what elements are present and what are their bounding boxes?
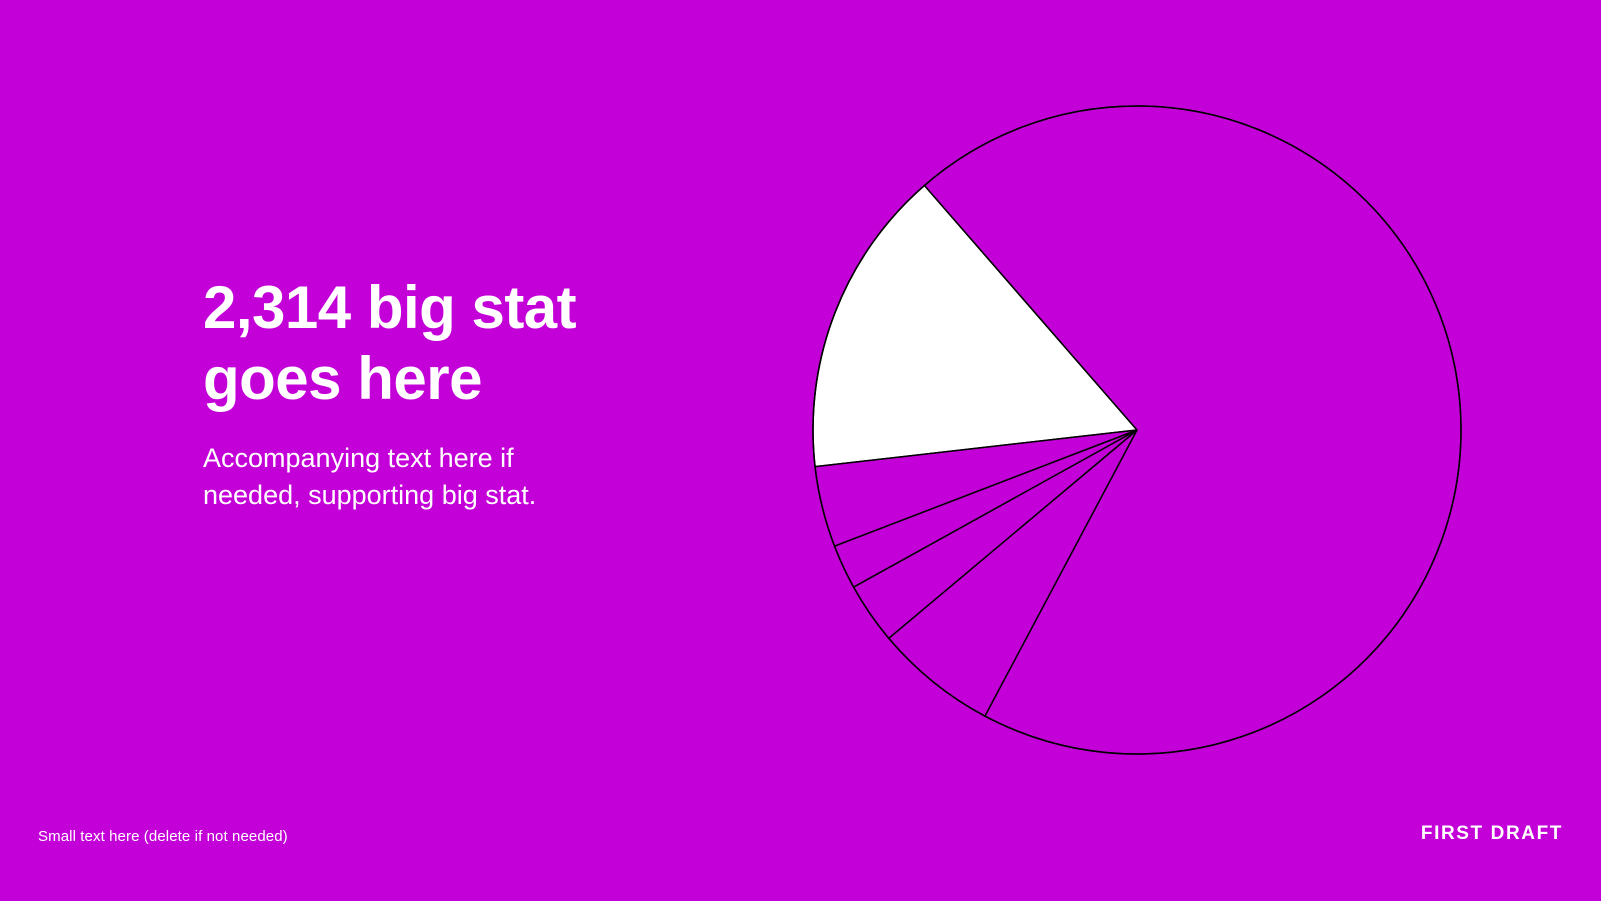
text-block: 2,314 big stat goes here Accompanying te…	[203, 272, 673, 514]
footer-small-text: Small text here (delete if not needed)	[38, 826, 288, 847]
pie-slice-group	[813, 106, 1461, 754]
big-stat-heading: 2,314 big stat goes here	[203, 272, 673, 414]
accompanying-text: Accompanying text here if needed, suppor…	[203, 414, 673, 514]
first-draft-badge: FIRST DRAFT	[1421, 822, 1563, 846]
pie-chart-svg	[800, 94, 1474, 768]
pie-chart	[800, 94, 1474, 768]
slide-canvas: 2,314 big stat goes here Accompanying te…	[0, 0, 1601, 901]
